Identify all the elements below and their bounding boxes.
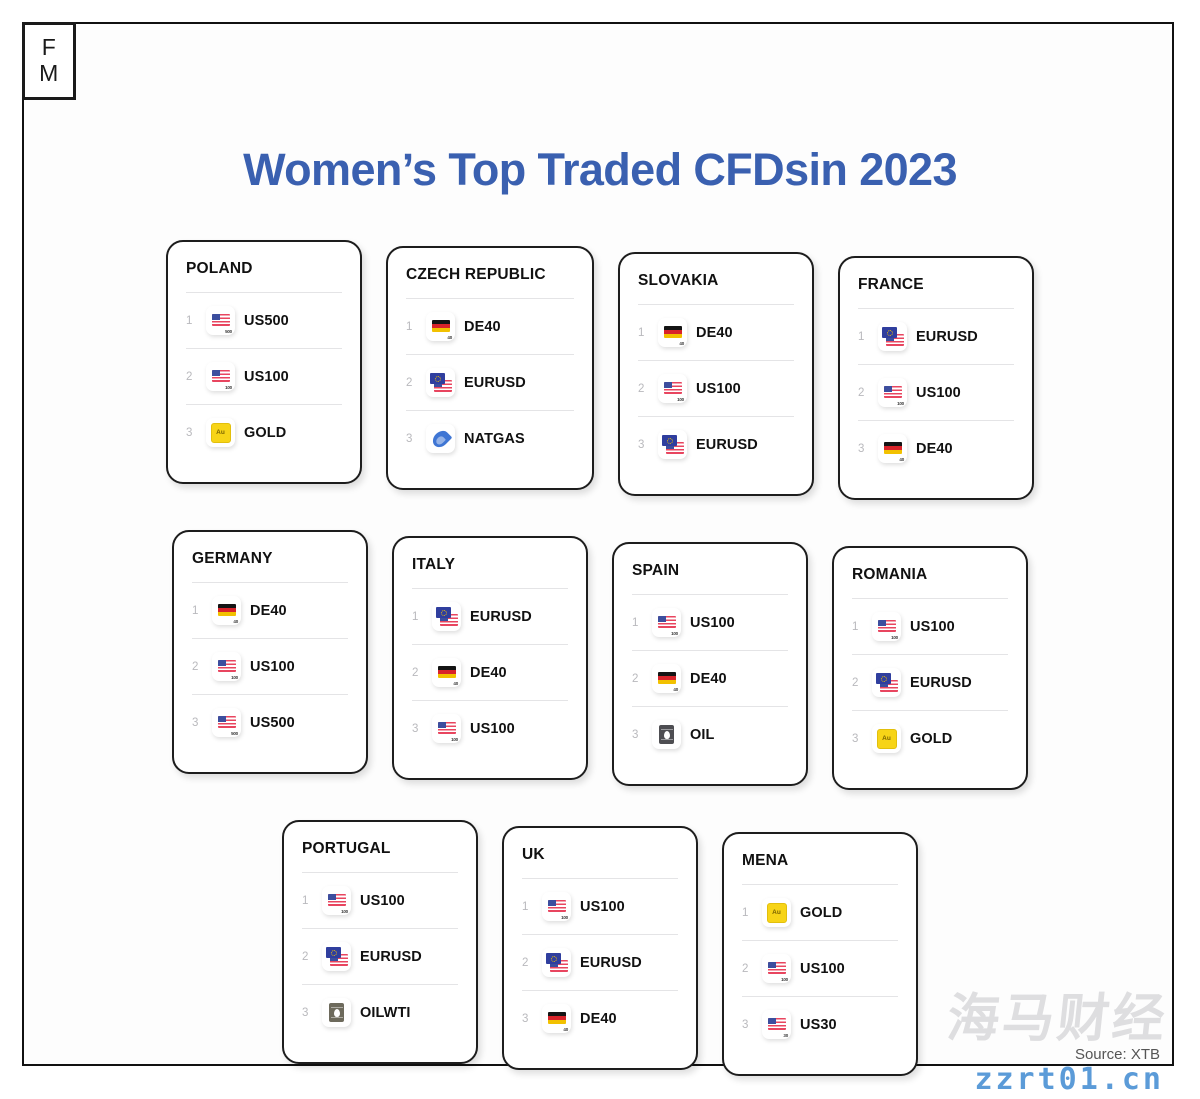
instrument-symbol: DE40 [250,603,287,619]
instrument-rank: 2 [406,377,417,389]
instrument-rank: 2 [412,667,423,679]
instrument-icon-tile: Au [762,898,791,927]
gold-icon: Au [763,899,790,926]
instrument-icon-tile: 40 [878,434,907,463]
instrument-row[interactable]: 240DE40 [632,651,788,706]
instrument-icon-tile: 100 [542,892,571,921]
instrument-rank: 2 [302,951,313,963]
instrument-icon-tile [432,602,461,631]
de-flag-icon: 40 [653,665,680,692]
instrument-rank: 1 [302,895,313,907]
instrument-rank: 1 [186,315,197,327]
de-flag-icon: 40 [427,313,454,340]
instrument-row[interactable]: 1100US100 [632,595,788,650]
instrument-rank: 3 [406,433,417,445]
country-card: MENA1AuGOLD2100US100330US30 [722,832,918,1076]
de-flag-icon: 40 [659,319,686,346]
instrument-icon-tile [872,668,901,697]
instrument-rank: 2 [852,677,863,689]
instrument-icon-tile [658,430,687,459]
instrument-icon-tile [426,368,455,397]
instrument-symbol: EURUSD [580,955,642,971]
instrument-row[interactable]: 140DE40 [406,299,574,354]
instrument-rank: 2 [522,957,533,969]
instrument-symbol: EURUSD [464,375,526,391]
instrument-rank: 3 [742,1019,753,1031]
instrument-row[interactable]: 3OILWTI [302,985,458,1040]
instrument-rank: 2 [186,371,197,383]
instrument-icon-tile: 100 [652,608,681,637]
instrument-icon-tile: 100 [212,652,241,681]
instrument-symbol: DE40 [696,325,733,341]
instrument-rank: 3 [186,427,197,439]
de-flag-icon: 40 [433,659,460,686]
us-flag-icon: 100 [653,609,680,636]
fm-logo-letter-f: F [42,35,57,61]
instrument-symbol: DE40 [690,671,727,687]
us-flag-icon: 100 [433,715,460,742]
country-card-title: SLOVAKIA [638,272,794,290]
card-row-2: GERMANY140DE402100US1003500US500ITALY1EU… [0,530,1200,790]
instrument-icon-tile [322,998,351,1027]
instrument-symbol: US30 [800,1017,837,1033]
card-row-1: POLAND1500US5002100US1003AuGOLDCZECH REP… [0,240,1200,500]
country-card: CZECH REPUBLIC140DE402EURUSD3NATGAS [386,246,594,490]
instrument-symbol: EURUSD [696,437,758,453]
us-flag-icon: 30 [763,1011,790,1038]
instrument-row[interactable]: 2100US100 [192,639,348,694]
instrument-rank: 3 [858,443,869,455]
instrument-symbol: DE40 [580,1011,617,1027]
instrument-rank: 2 [742,963,753,975]
instrument-icon-tile: Au [872,724,901,753]
eurusd-flag-pair-icon [323,943,350,970]
country-card-title: CZECH REPUBLIC [406,266,574,284]
us-flag-icon: 500 [213,709,240,736]
fm-logo: F M [22,22,76,100]
country-card-title: UK [522,846,678,864]
country-card: ITALY1EURUSD240DE403100US100 [392,536,588,780]
instrument-row[interactable]: 2EURUSD [522,935,678,990]
instrument-symbol: US100 [800,961,845,977]
us-flag-icon: 100 [763,955,790,982]
de-flag-icon: 40 [879,435,906,462]
card-row-3: PORTUGAL1100US1002EURUSD3OILWTIUK1100US1… [0,820,1200,1076]
instrument-symbol: US100 [696,381,741,397]
instrument-symbol: OIL [690,727,714,743]
instrument-row[interactable]: 3AuGOLD [852,711,1008,766]
instrument-rank: 1 [412,611,423,623]
instrument-icon-tile: 100 [872,612,901,641]
instrument-row[interactable]: 2100US100 [742,941,898,996]
instrument-icon-tile: 100 [322,886,351,915]
instrument-symbol: GOLD [910,731,952,747]
instrument-symbol: DE40 [916,441,953,457]
watermark-url: zzrt01.cn [974,1062,1164,1097]
instrument-row[interactable]: 240DE40 [412,645,568,700]
instrument-rank: 1 [852,621,863,633]
gold-icon: Au [873,725,900,752]
instrument-icon-tile: 40 [212,596,241,625]
us-flag-icon: 100 [543,893,570,920]
instrument-rank: 3 [638,439,649,451]
de-flag-icon: 40 [543,1005,570,1032]
instrument-rank: 1 [858,331,869,343]
instrument-icon-tile: 40 [432,658,461,687]
instrument-row[interactable]: 1EURUSD [412,589,568,644]
instrument-row[interactable]: 2EURUSD [302,929,458,984]
instrument-row[interactable]: 340DE40 [522,991,678,1046]
eurusd-flag-pair-icon [433,603,460,630]
country-card-title: ITALY [412,556,568,574]
instrument-symbol: US100 [690,615,735,631]
instrument-row[interactable]: 140DE40 [638,305,794,360]
instrument-icon-tile [878,322,907,351]
instrument-icon-tile [322,942,351,971]
instrument-icon-tile [426,424,455,453]
country-card: POLAND1500US5002100US1003AuGOLD [166,240,362,484]
instrument-row[interactable]: 2100US100 [638,361,794,416]
eurusd-flag-pair-icon [543,949,570,976]
instrument-icon-tile: 100 [658,374,687,403]
instrument-row[interactable]: 2100US100 [858,365,1014,420]
instrument-row[interactable]: 1500US500 [186,293,342,348]
instrument-rank: 3 [192,717,203,729]
us-flag-icon: 500 [207,307,234,334]
instrument-symbol: GOLD [800,905,842,921]
de-flag-icon: 40 [213,597,240,624]
instrument-rank: 3 [522,1013,533,1025]
instrument-icon-tile: 40 [426,312,455,341]
us-flag-icon: 100 [873,613,900,640]
country-card: UK1100US1002EURUSD340DE40 [502,826,698,1070]
oil-barrel-light-icon [323,999,350,1026]
instrument-icon-tile: Au [206,418,235,447]
eurusd-flag-pair-icon [427,369,454,396]
instrument-rank: 2 [638,383,649,395]
instrument-symbol: OILWTI [360,1005,411,1021]
instrument-symbol: US100 [580,899,625,915]
instrument-rank: 1 [522,901,533,913]
instrument-icon-tile [652,720,681,749]
page-title: Women’s Top Traded CFDsin 2023 [0,144,1200,196]
instrument-row[interactable]: 1100US100 [852,599,1008,654]
instrument-symbol: EURUSD [470,609,532,625]
instrument-rank: 1 [632,617,643,629]
instrument-symbol: US100 [250,659,295,675]
instrument-row[interactable]: 1AuGOLD [742,885,898,940]
instrument-icon-tile: 100 [878,378,907,407]
instrument-symbol: US500 [250,715,295,731]
instrument-symbol: DE40 [464,319,501,335]
instrument-row[interactable]: 3500US500 [192,695,348,750]
instrument-row[interactable]: 2EURUSD [852,655,1008,710]
country-card-title: MENA [742,852,898,870]
country-card-title: GERMANY [192,550,348,568]
instrument-rank: 1 [638,327,649,339]
instrument-icon-tile: 100 [762,954,791,983]
eurusd-flag-pair-icon [659,431,686,458]
eurusd-flag-pair-icon [873,669,900,696]
country-card-title: PORTUGAL [302,840,458,858]
instrument-row[interactable]: 3100US100 [412,701,568,756]
instrument-rank: 2 [632,673,643,685]
instrument-row[interactable]: 340DE40 [858,421,1014,476]
instrument-row[interactable]: 1EURUSD [858,309,1014,364]
flame-icon [427,425,454,452]
country-card-title: POLAND [186,260,342,278]
instrument-symbol: US100 [916,385,961,401]
country-card-title: ROMANIA [852,566,1008,584]
country-card: PORTUGAL1100US1002EURUSD3OILWTI [282,820,478,1064]
us-flag-icon: 100 [207,363,234,390]
country-card-title: SPAIN [632,562,788,580]
country-card: SPAIN1100US100240DE403OIL [612,542,808,786]
instrument-row[interactable]: 2EURUSD [406,355,574,410]
country-card: GERMANY140DE402100US1003500US500 [172,530,368,774]
country-card: SLOVAKIA140DE402100US1003EURUSD [618,252,814,496]
instrument-rank: 3 [302,1007,313,1019]
country-card-grid: POLAND1500US5002100US1003AuGOLDCZECH REP… [0,240,1200,1076]
instrument-icon-tile: 40 [652,664,681,693]
instrument-row[interactable]: 3OIL [632,707,788,762]
us-flag-icon: 100 [659,375,686,402]
source-label: Source: XTB [1075,1046,1160,1063]
instrument-symbol: EURUSD [910,675,972,691]
instrument-symbol: DE40 [470,665,507,681]
oil-barrel-icon [653,721,680,748]
us-flag-icon: 100 [213,653,240,680]
instrument-rank: 3 [412,723,423,735]
eurusd-flag-pair-icon [879,323,906,350]
instrument-icon-tile: 500 [206,306,235,335]
instrument-symbol: US100 [244,369,289,385]
instrument-symbol: US100 [910,619,955,635]
instrument-icon-tile: 40 [658,318,687,347]
instrument-rank: 2 [192,661,203,673]
instrument-icon-tile [542,948,571,977]
instrument-row[interactable]: 330US30 [742,997,898,1052]
country-card: ROMANIA1100US1002EURUSD3AuGOLD [832,546,1028,790]
instrument-symbol: GOLD [244,425,286,441]
instrument-symbol: NATGAS [464,431,525,447]
instrument-rank: 2 [858,387,869,399]
instrument-icon-tile: 500 [212,708,241,737]
instrument-symbol: US500 [244,313,289,329]
instrument-symbol: US100 [360,893,405,909]
instrument-row[interactable]: 3EURUSD [638,417,794,472]
country-card: FRANCE1EURUSD2100US100340DE40 [838,256,1034,500]
instrument-icon-tile: 100 [206,362,235,391]
instrument-rank: 3 [632,729,643,741]
instrument-row[interactable]: 1100US100 [522,879,678,934]
us-flag-icon: 100 [879,379,906,406]
us-flag-icon: 100 [323,887,350,914]
instrument-symbol: EURUSD [360,949,422,965]
instrument-row[interactable]: 140DE40 [192,583,348,638]
country-card-title: FRANCE [858,276,1014,294]
instrument-symbol: US100 [470,721,515,737]
fm-logo-letter-m: M [39,61,59,87]
instrument-row[interactable]: 3AuGOLD [186,405,342,460]
gold-icon: Au [207,419,234,446]
instrument-rank: 1 [192,605,203,617]
instrument-icon-tile: 100 [432,714,461,743]
instrument-row[interactable]: 2100US100 [186,349,342,404]
instrument-symbol: EURUSD [916,329,978,345]
instrument-rank: 1 [742,907,753,919]
instrument-rank: 3 [852,733,863,745]
instrument-rank: 1 [406,321,417,333]
instrument-row[interactable]: 3NATGAS [406,411,574,466]
instrument-icon-tile: 40 [542,1004,571,1033]
instrument-row[interactable]: 1100US100 [302,873,458,928]
instrument-icon-tile: 30 [762,1010,791,1039]
